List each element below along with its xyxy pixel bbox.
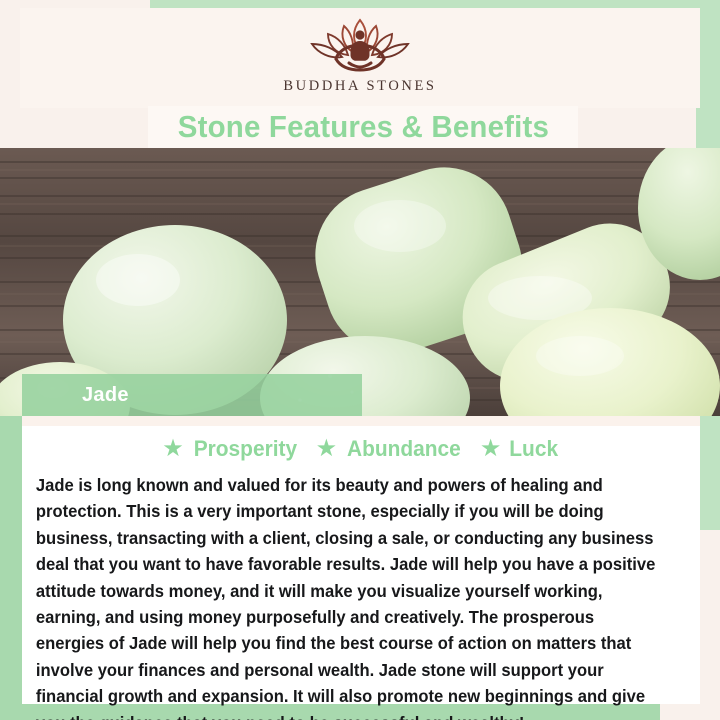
benefit-label: Prosperity — [193, 436, 296, 462]
lotus-meditation-icon — [300, 14, 420, 76]
stone-name-band: Jade — [22, 374, 362, 416]
stone-photo: Jade — [0, 148, 720, 416]
title-banner: Stone Features & Benefits — [148, 106, 578, 148]
divider-strip — [22, 416, 700, 426]
star-icon: ★ — [480, 437, 502, 461]
stone-description: Jade is long known and valued for its be… — [34, 472, 665, 720]
benefit-label: Abundance — [347, 436, 461, 462]
star-icon: ★ — [162, 437, 184, 461]
stone-details-card: ★ Prosperity ★ Abundance ★ Luck Jade is … — [22, 416, 700, 704]
benefit-abundance: ★ Abundance — [316, 436, 464, 462]
benefits-row: ★ Prosperity ★ Abundance ★ Luck — [34, 428, 688, 470]
benefit-label: Luck — [510, 436, 559, 462]
stone-name: Jade — [82, 384, 129, 407]
benefit-luck: ★ Luck — [480, 436, 560, 462]
brand-name: BUDDHA STONES — [283, 78, 436, 95]
stone-info-card: BUDDHA STONES Stone Features & Benefits — [0, 0, 720, 720]
star-icon: ★ — [316, 437, 338, 461]
page-title: Stone Features & Benefits — [177, 109, 548, 145]
benefit-prosperity: ★ Prosperity — [162, 436, 299, 462]
brand-header: BUDDHA STONES — [20, 8, 700, 108]
